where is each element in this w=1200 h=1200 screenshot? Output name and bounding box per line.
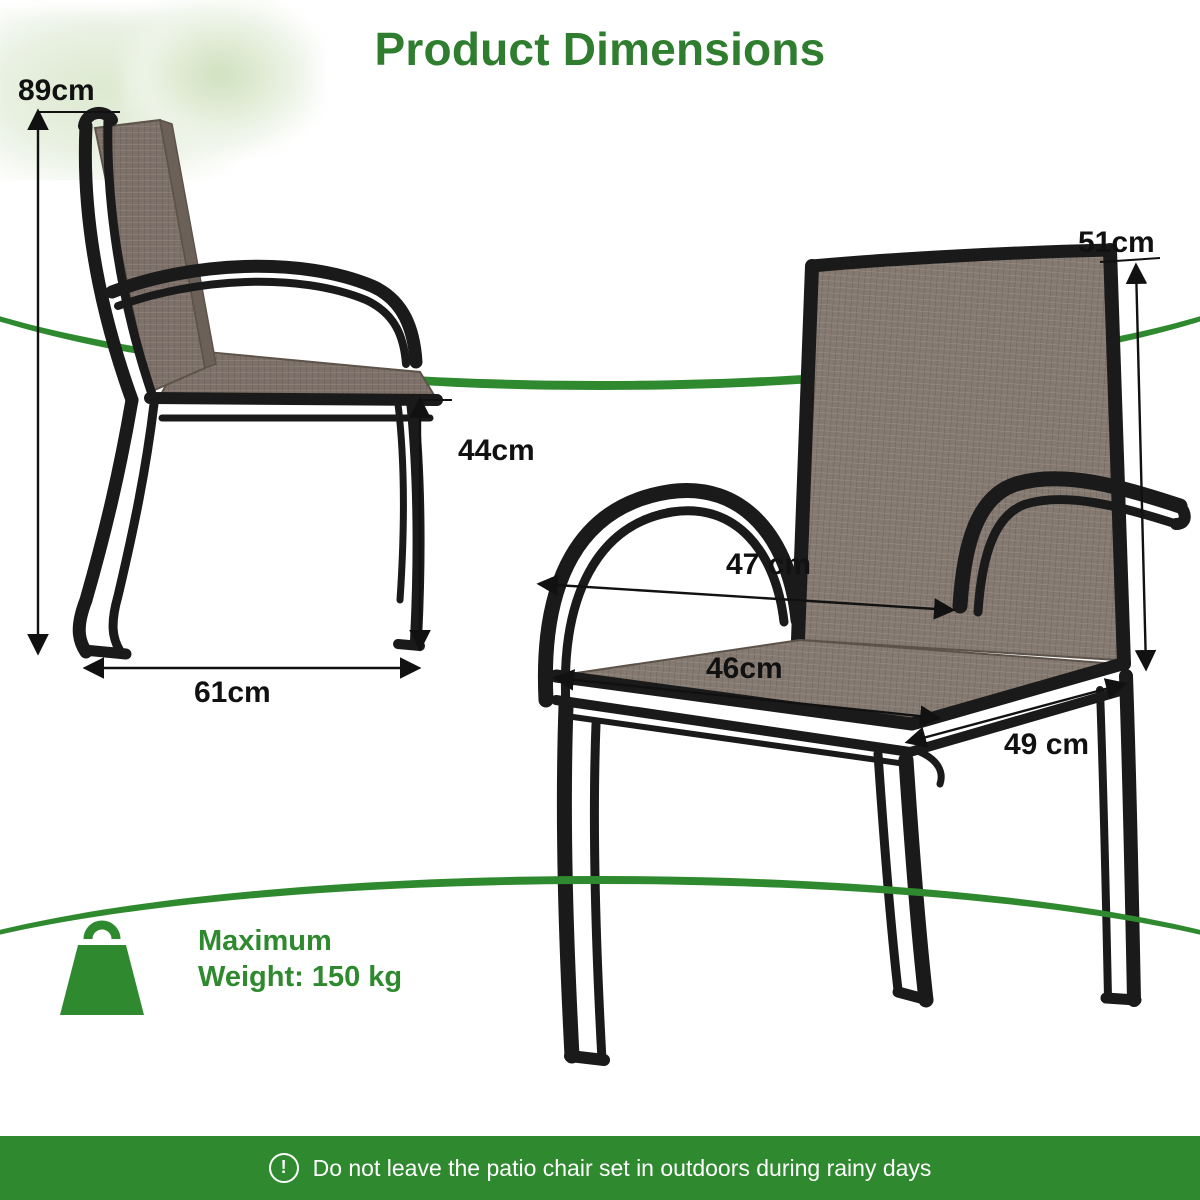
dimension-label-armrest-width: 47 cm: [726, 548, 811, 582]
product-dimensions-page: Product Dimensions: [0, 0, 1200, 1200]
bottom-green-arc: [0, 876, 1200, 1136]
exclamation-circle-icon: !: [269, 1153, 299, 1183]
footer-warning-bar: ! Do not leave the patio chair set in ou…: [0, 1136, 1200, 1200]
footer-warning-text: Do not leave the patio chair set in outd…: [313, 1155, 932, 1182]
page-title: Product Dimensions: [0, 22, 1200, 76]
dimension-label-seat-height: 44cm: [458, 434, 535, 468]
dimension-label-depth: 61cm: [194, 676, 271, 710]
dimension-label-seat-width: 46cm: [706, 652, 783, 686]
dimension-label-seat-depth: 49 cm: [1004, 728, 1089, 762]
dimension-label-backrest-height: 51cm: [1078, 226, 1155, 260]
dimension-label-height: 89cm: [18, 74, 95, 108]
top-green-arc: [0, 60, 1200, 390]
